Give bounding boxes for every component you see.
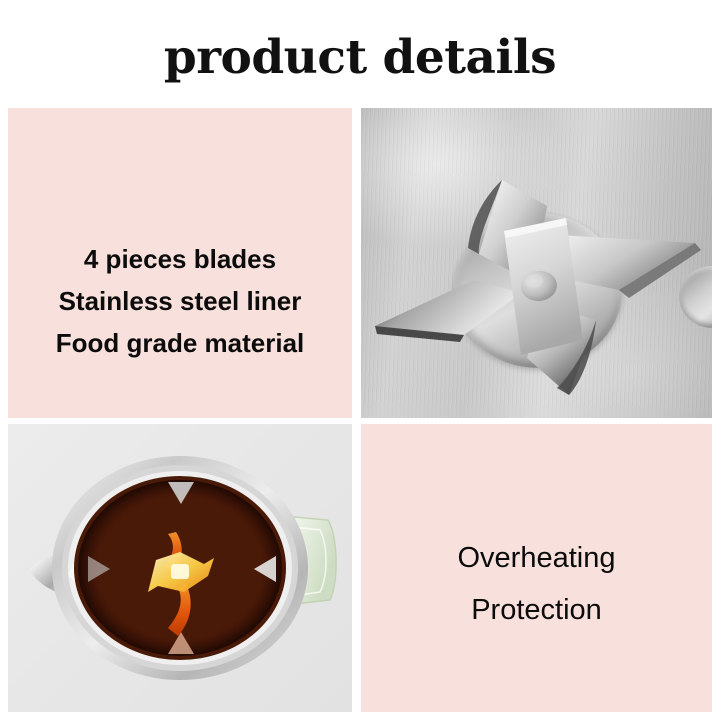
blade-arm-lower xyxy=(168,584,191,636)
feature-list: 4 pieces blades Stainless steel liner Fo… xyxy=(8,238,352,364)
blade-wing-lower-left xyxy=(375,280,521,335)
overheating-protection-panel: Overheating Protection xyxy=(361,424,712,712)
brushed-metal-base xyxy=(361,108,712,418)
overheating-demo-photo xyxy=(8,424,352,712)
features-text-panel: 4 pieces blades Stainless steel liner Fo… xyxy=(8,108,352,418)
protection-text-block: Overheating Protection xyxy=(361,532,712,636)
protection-line-protection: Protection xyxy=(361,584,712,636)
blade-closeup-photo xyxy=(361,108,712,418)
feature-line-liner: Stainless steel liner xyxy=(8,280,352,322)
blade-hub xyxy=(171,564,189,579)
page-title: product details xyxy=(0,34,720,81)
feature-line-material: Food grade material xyxy=(8,322,352,364)
protection-line-overheating: Overheating xyxy=(361,532,712,584)
four-point-blade xyxy=(361,108,712,418)
feature-line-blades: 4 pieces blades xyxy=(8,238,352,280)
product-details-infographic: product details 4 pieces blades Stainles… xyxy=(0,0,720,720)
jug-photo-backdrop xyxy=(8,424,352,712)
blade-silhouette xyxy=(8,424,352,712)
